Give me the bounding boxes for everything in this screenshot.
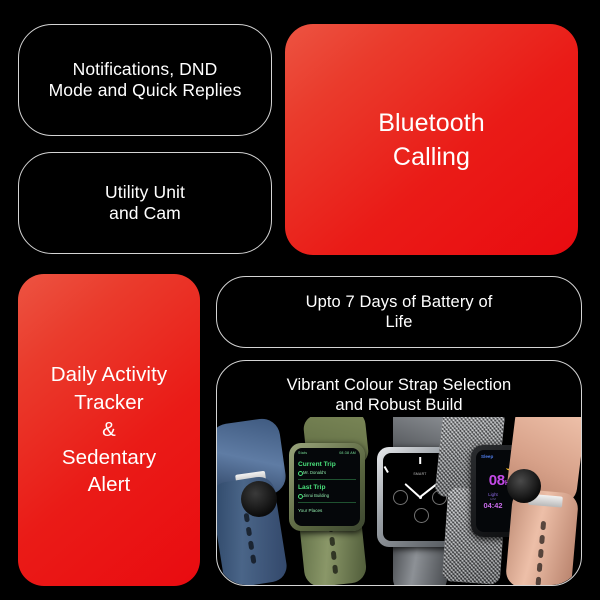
- olive-watch-body: Stats 08:38 AM Current Trip Mr. Donald's…: [289, 443, 365, 531]
- trips-watch-screen: Stats 08:38 AM Current Trip Mr. Donald's…: [294, 448, 360, 526]
- trips-status-right: 08:38 AM: [339, 451, 356, 455]
- feature-card-bluetooth-calling: Bluetooth Calling: [285, 24, 578, 255]
- analog-hand-hub: [419, 496, 422, 499]
- sleep-total-hours: 08: [489, 472, 505, 489]
- analog-subdial-bottom: [414, 508, 429, 523]
- feature-card-notifications-label: Notifications, DND Mode and Quick Replie…: [39, 59, 252, 102]
- feature-card-activity-tracker-label: Daily Activity Tracker & Sedentary Alert: [41, 361, 177, 498]
- rose-silicone-watch: [505, 419, 581, 585]
- feature-card-battery-life: Upto 7 Days of Battery of Life: [216, 276, 582, 348]
- trips-screen-status-bar: Stats 08:38 AM: [298, 451, 356, 455]
- blue-watch-back-sensor: [241, 481, 277, 517]
- trips-current-sub: Mr. Donald's: [303, 470, 326, 475]
- feature-card-utility: Utility Unit and Cam: [18, 152, 272, 254]
- feature-card-strap-selection: Vibrant Colour Strap Selection and Robus…: [216, 360, 582, 586]
- feature-card-bluetooth-calling-label: Bluetooth Calling: [368, 106, 495, 174]
- sleep-screen-title: Sleep: [481, 454, 493, 459]
- feature-card-strap-selection-label: Vibrant Colour Strap Selection and Robus…: [277, 375, 522, 415]
- feature-collage: Notifications, DND Mode and Quick Replie…: [0, 0, 600, 600]
- feature-card-utility-label: Utility Unit and Cam: [95, 182, 195, 225]
- trips-divider-one: [298, 479, 356, 480]
- trips-divider-two: [298, 502, 356, 503]
- trips-current-title: Current Trip: [298, 461, 336, 468]
- trips-footer: Your Places: [298, 508, 322, 513]
- feature-card-battery-life-label: Upto 7 Days of Battery of Life: [296, 292, 503, 332]
- feature-card-activity-tracker: Daily Activity Tracker & Sedentary Alert: [18, 274, 200, 586]
- watch-lineup-image: Stats 08:38 AM Current Trip Mr. Donald's…: [217, 417, 581, 585]
- feature-card-notifications: Notifications, DND Mode and Quick Replie…: [18, 24, 272, 136]
- rose-watch-back-sensor: [507, 469, 541, 503]
- trips-last-sub: Jinrui Building: [303, 493, 329, 498]
- rose-strap-lower: [505, 488, 579, 585]
- trips-status-left: Stats: [298, 451, 307, 455]
- trips-last-title: Last Trip: [298, 484, 325, 491]
